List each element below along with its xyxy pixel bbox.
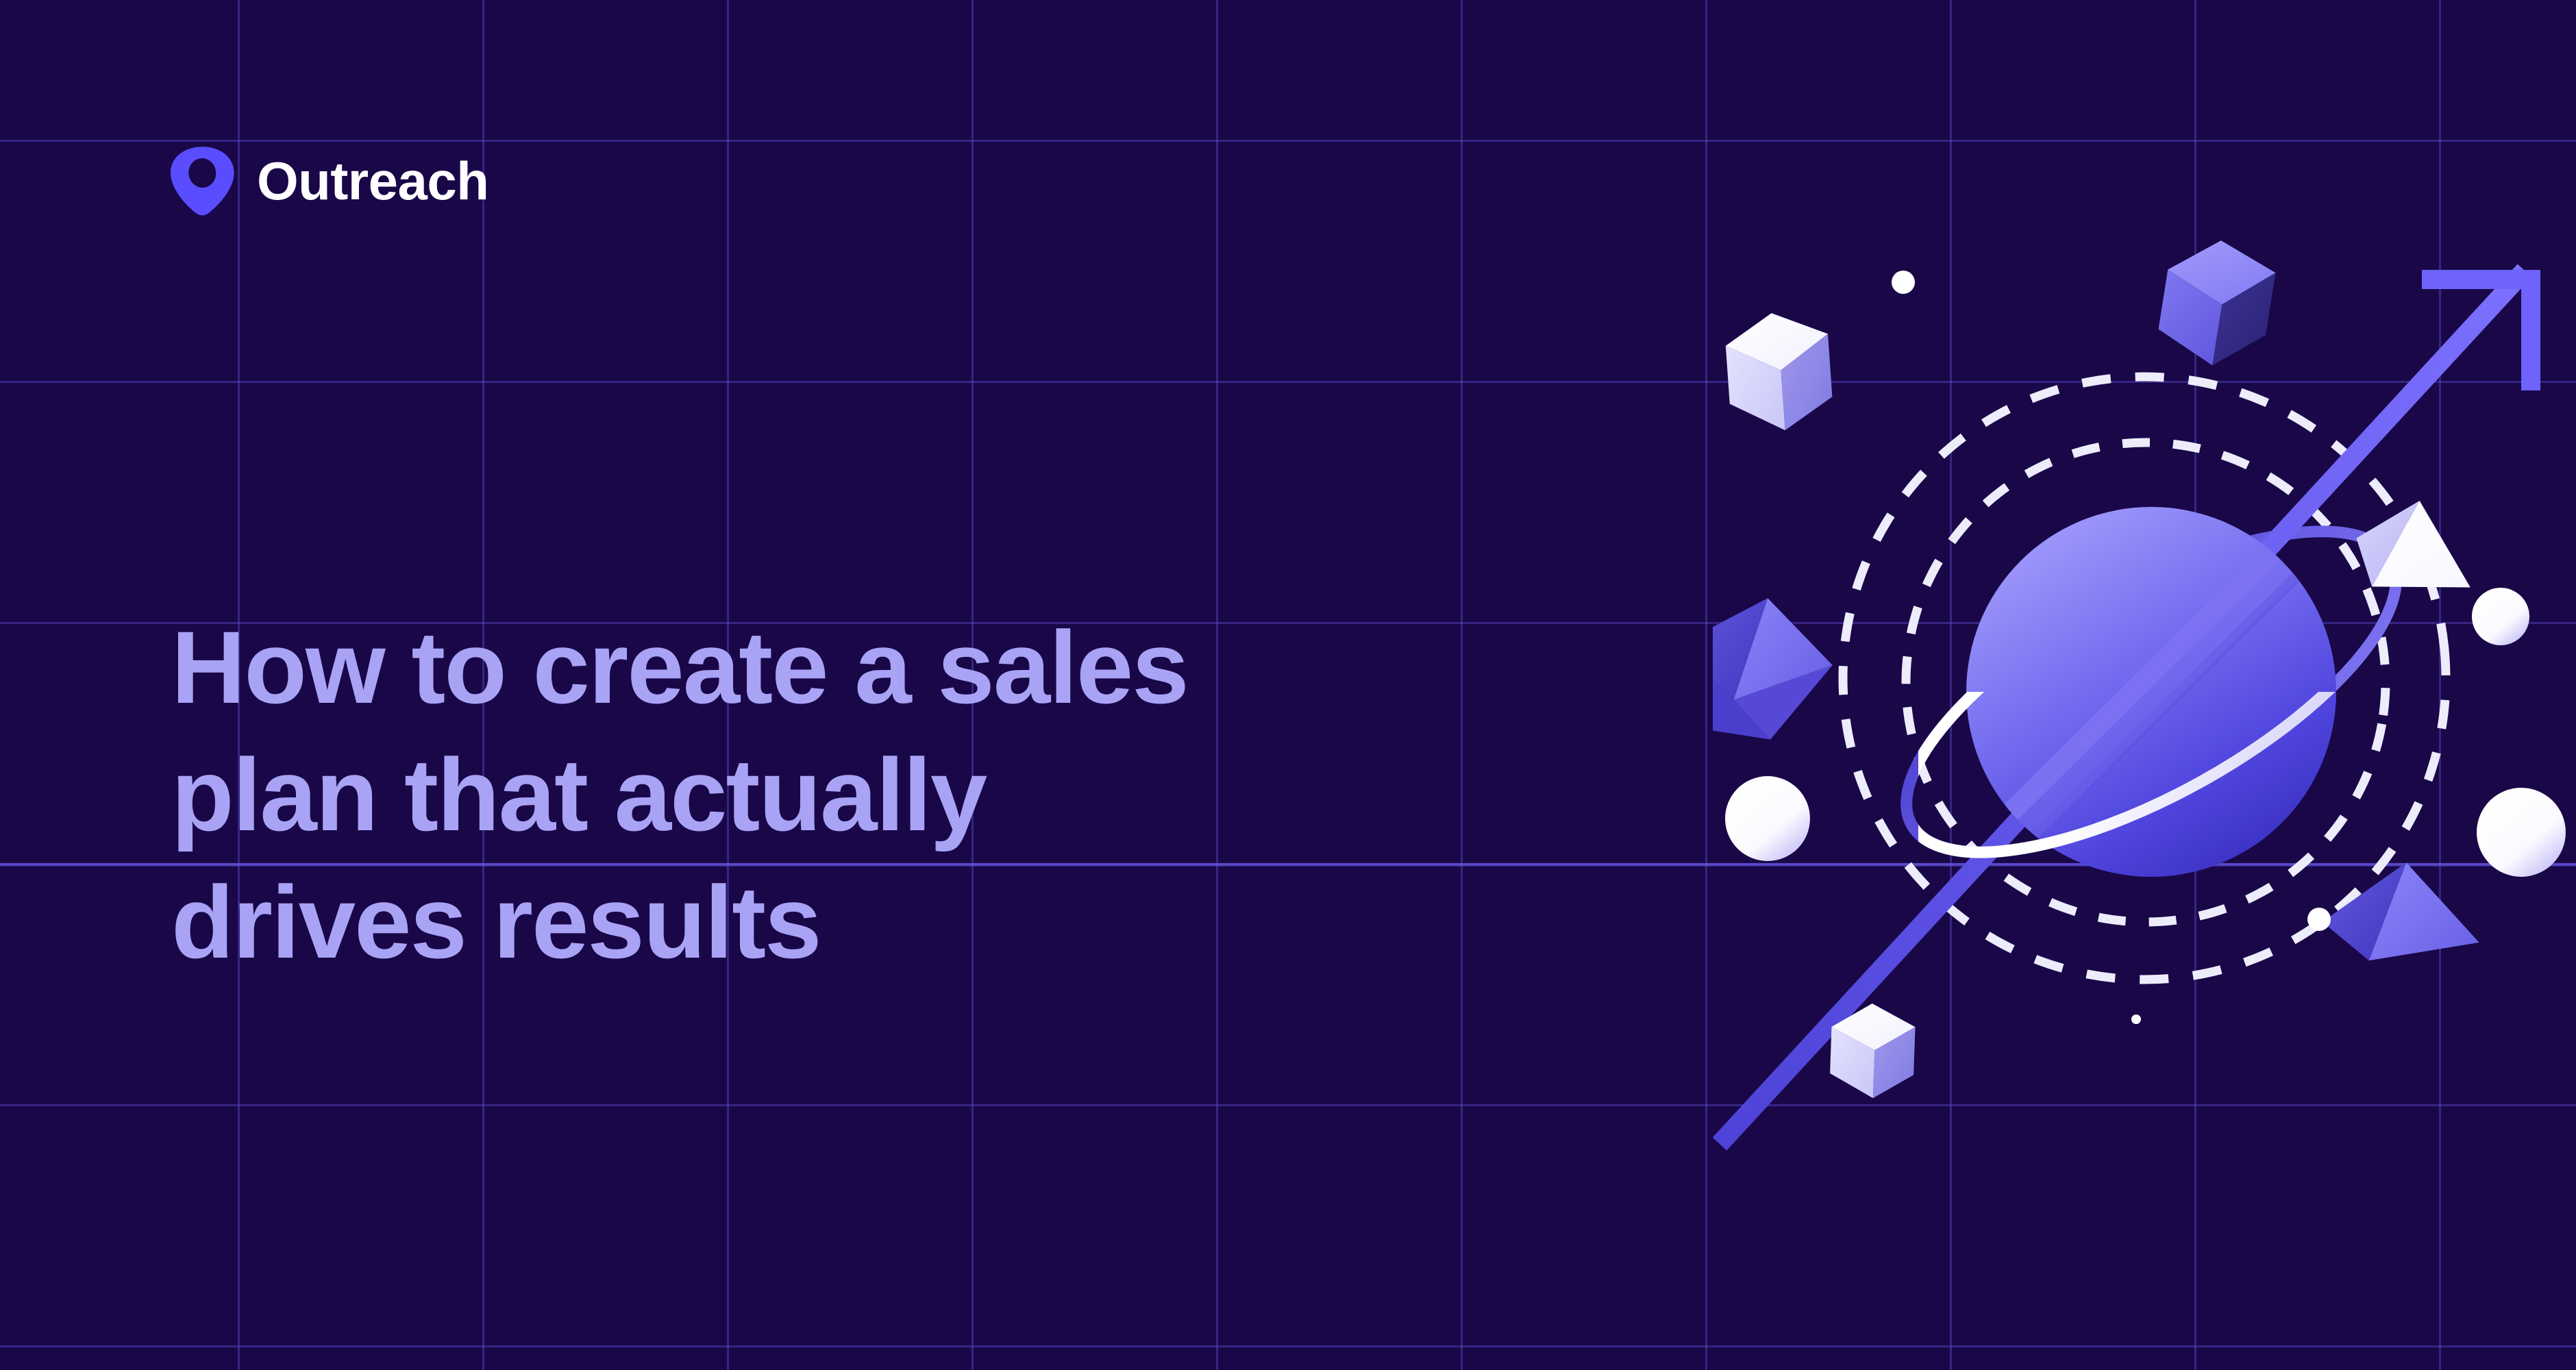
orbiting-planet-illustration-svg [1713, 199, 2576, 1171]
hero-banner: Outreach How to create a sales plan that… [0, 0, 2576, 1370]
sphere-medium-right-icon [2472, 588, 2529, 645]
headline-line-3: drives results [171, 858, 1747, 986]
dot-tiny-bottom-icon [2131, 1014, 2141, 1024]
cube-white-top-left-icon [1724, 310, 1835, 434]
pyramid-purple-bottom-right-icon [2319, 859, 2479, 963]
cube-purple-top-right-icon [2154, 233, 2279, 373]
page-title: How to create a sales plan that actually… [171, 603, 1747, 986]
pyramid-purple-left-icon [1713, 590, 1842, 751]
outreach-pin-logo-icon [169, 145, 235, 216]
sphere-large-right-icon [2477, 788, 2566, 877]
outreach-logo[interactable]: Outreach [169, 145, 488, 216]
pyramid-white-right-icon [2351, 495, 2479, 597]
headline-line-2: plan that actually [171, 731, 1747, 858]
dot-small-bottom-icon [2307, 908, 2331, 931]
outreach-wordmark: Outreach [257, 154, 488, 208]
sphere-large-left-icon [1725, 776, 1810, 861]
hero-illustration [1713, 199, 2576, 1171]
headline-line-1: How to create a sales [171, 603, 1747, 731]
dot-small-top-icon [1892, 271, 1915, 294]
